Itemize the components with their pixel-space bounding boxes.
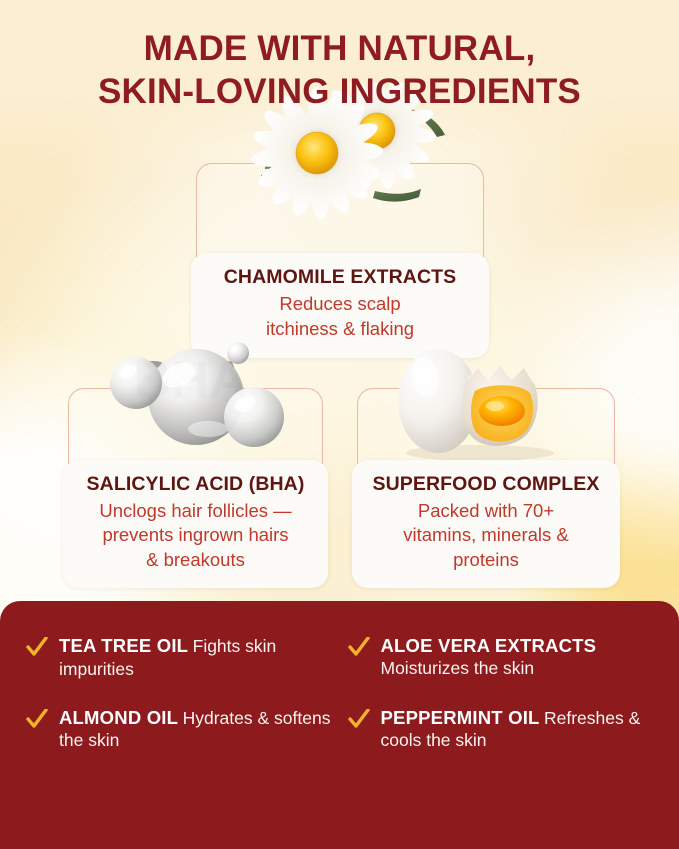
benefit-item-peppermint-oil: PEPPERMINT OIL Refreshes & cools the ski… [340, 707, 654, 753]
benefit-name: TEA TREE OIL [59, 635, 188, 656]
card-description-line-3: & breakouts [146, 549, 245, 570]
page-title-line-2: SKIN-LOVING INGREDIENTS [0, 71, 679, 114]
ingredient-card-chamomile: CHAMOMILE EXTRACTS Reduces scalp itchine… [196, 163, 484, 353]
ingredient-card-superfood-complex: SUPERFOOD COMPLEX Packed with 70+ vitami… [357, 388, 615, 583]
card-title: SUPERFOOD COMPLEX [362, 473, 610, 496]
card-title: SALICYLIC ACID (BHA) [73, 473, 318, 496]
benefit-name: PEPPERMINT OIL [381, 707, 540, 728]
ingredient-card-salicylic-acid: BHA SALICYLIC ACID (BHA) Unclogs hair fo… [68, 388, 323, 583]
card-description: Packed with 70+ vitamins, minerals & pro… [362, 499, 610, 572]
benefit-item-tea-tree-oil: TEA TREE OIL Fights skin impurities [26, 635, 340, 681]
check-icon [26, 637, 48, 681]
check-icon [26, 709, 48, 753]
benefits-row: TEA TREE OIL Fights skin impurities ALOE… [26, 635, 653, 681]
card-description-line-1: Packed with 70+ [418, 500, 554, 521]
benefit-item-almond-oil: ALMOND OIL Hydrates & softens the skin [26, 707, 340, 753]
check-icon [348, 637, 370, 681]
page-title: MADE WITH NATURAL, SKIN-LOVING INGREDIEN… [0, 28, 679, 113]
card-text-panel: SUPERFOOD COMPLEX Packed with 70+ vitami… [352, 460, 620, 588]
check-icon [348, 709, 370, 753]
benefit-item-aloe-vera-extracts: ALOE VERA EXTRACTS Moisturizes the skin [340, 635, 654, 681]
card-description-line-2: prevents ingrown hairs [102, 524, 288, 545]
card-description-line-2: vitamins, minerals & [403, 524, 569, 545]
page-title-line-1: MADE WITH NATURAL, [144, 29, 536, 68]
benefits-panel: TEA TREE OIL Fights skin impurities ALOE… [0, 601, 679, 849]
benefits-row: ALMOND OIL Hydrates & softens the skin P… [26, 707, 653, 753]
card-description-line-3: proteins [453, 549, 519, 570]
card-text-panel: SALICYLIC ACID (BHA) Unclogs hair follic… [63, 460, 328, 588]
card-description-line-1: Reduces scalp [279, 293, 400, 314]
benefit-name: ALOE VERA EXTRACTS [381, 635, 597, 656]
card-description: Unclogs hair follicles — prevents ingrow… [73, 499, 318, 572]
card-title: CHAMOMILE EXTRACTS [201, 266, 479, 289]
card-description: Reduces scalp itchiness & flaking [201, 292, 479, 341]
card-description-line-2: itchiness & flaking [266, 318, 414, 339]
card-description-line-1: Unclogs hair follicles — [99, 500, 291, 521]
card-text-panel: CHAMOMILE EXTRACTS Reduces scalp itchine… [191, 253, 489, 358]
benefit-name: ALMOND OIL [59, 707, 178, 728]
benefit-description: Moisturizes the skin [381, 658, 535, 678]
